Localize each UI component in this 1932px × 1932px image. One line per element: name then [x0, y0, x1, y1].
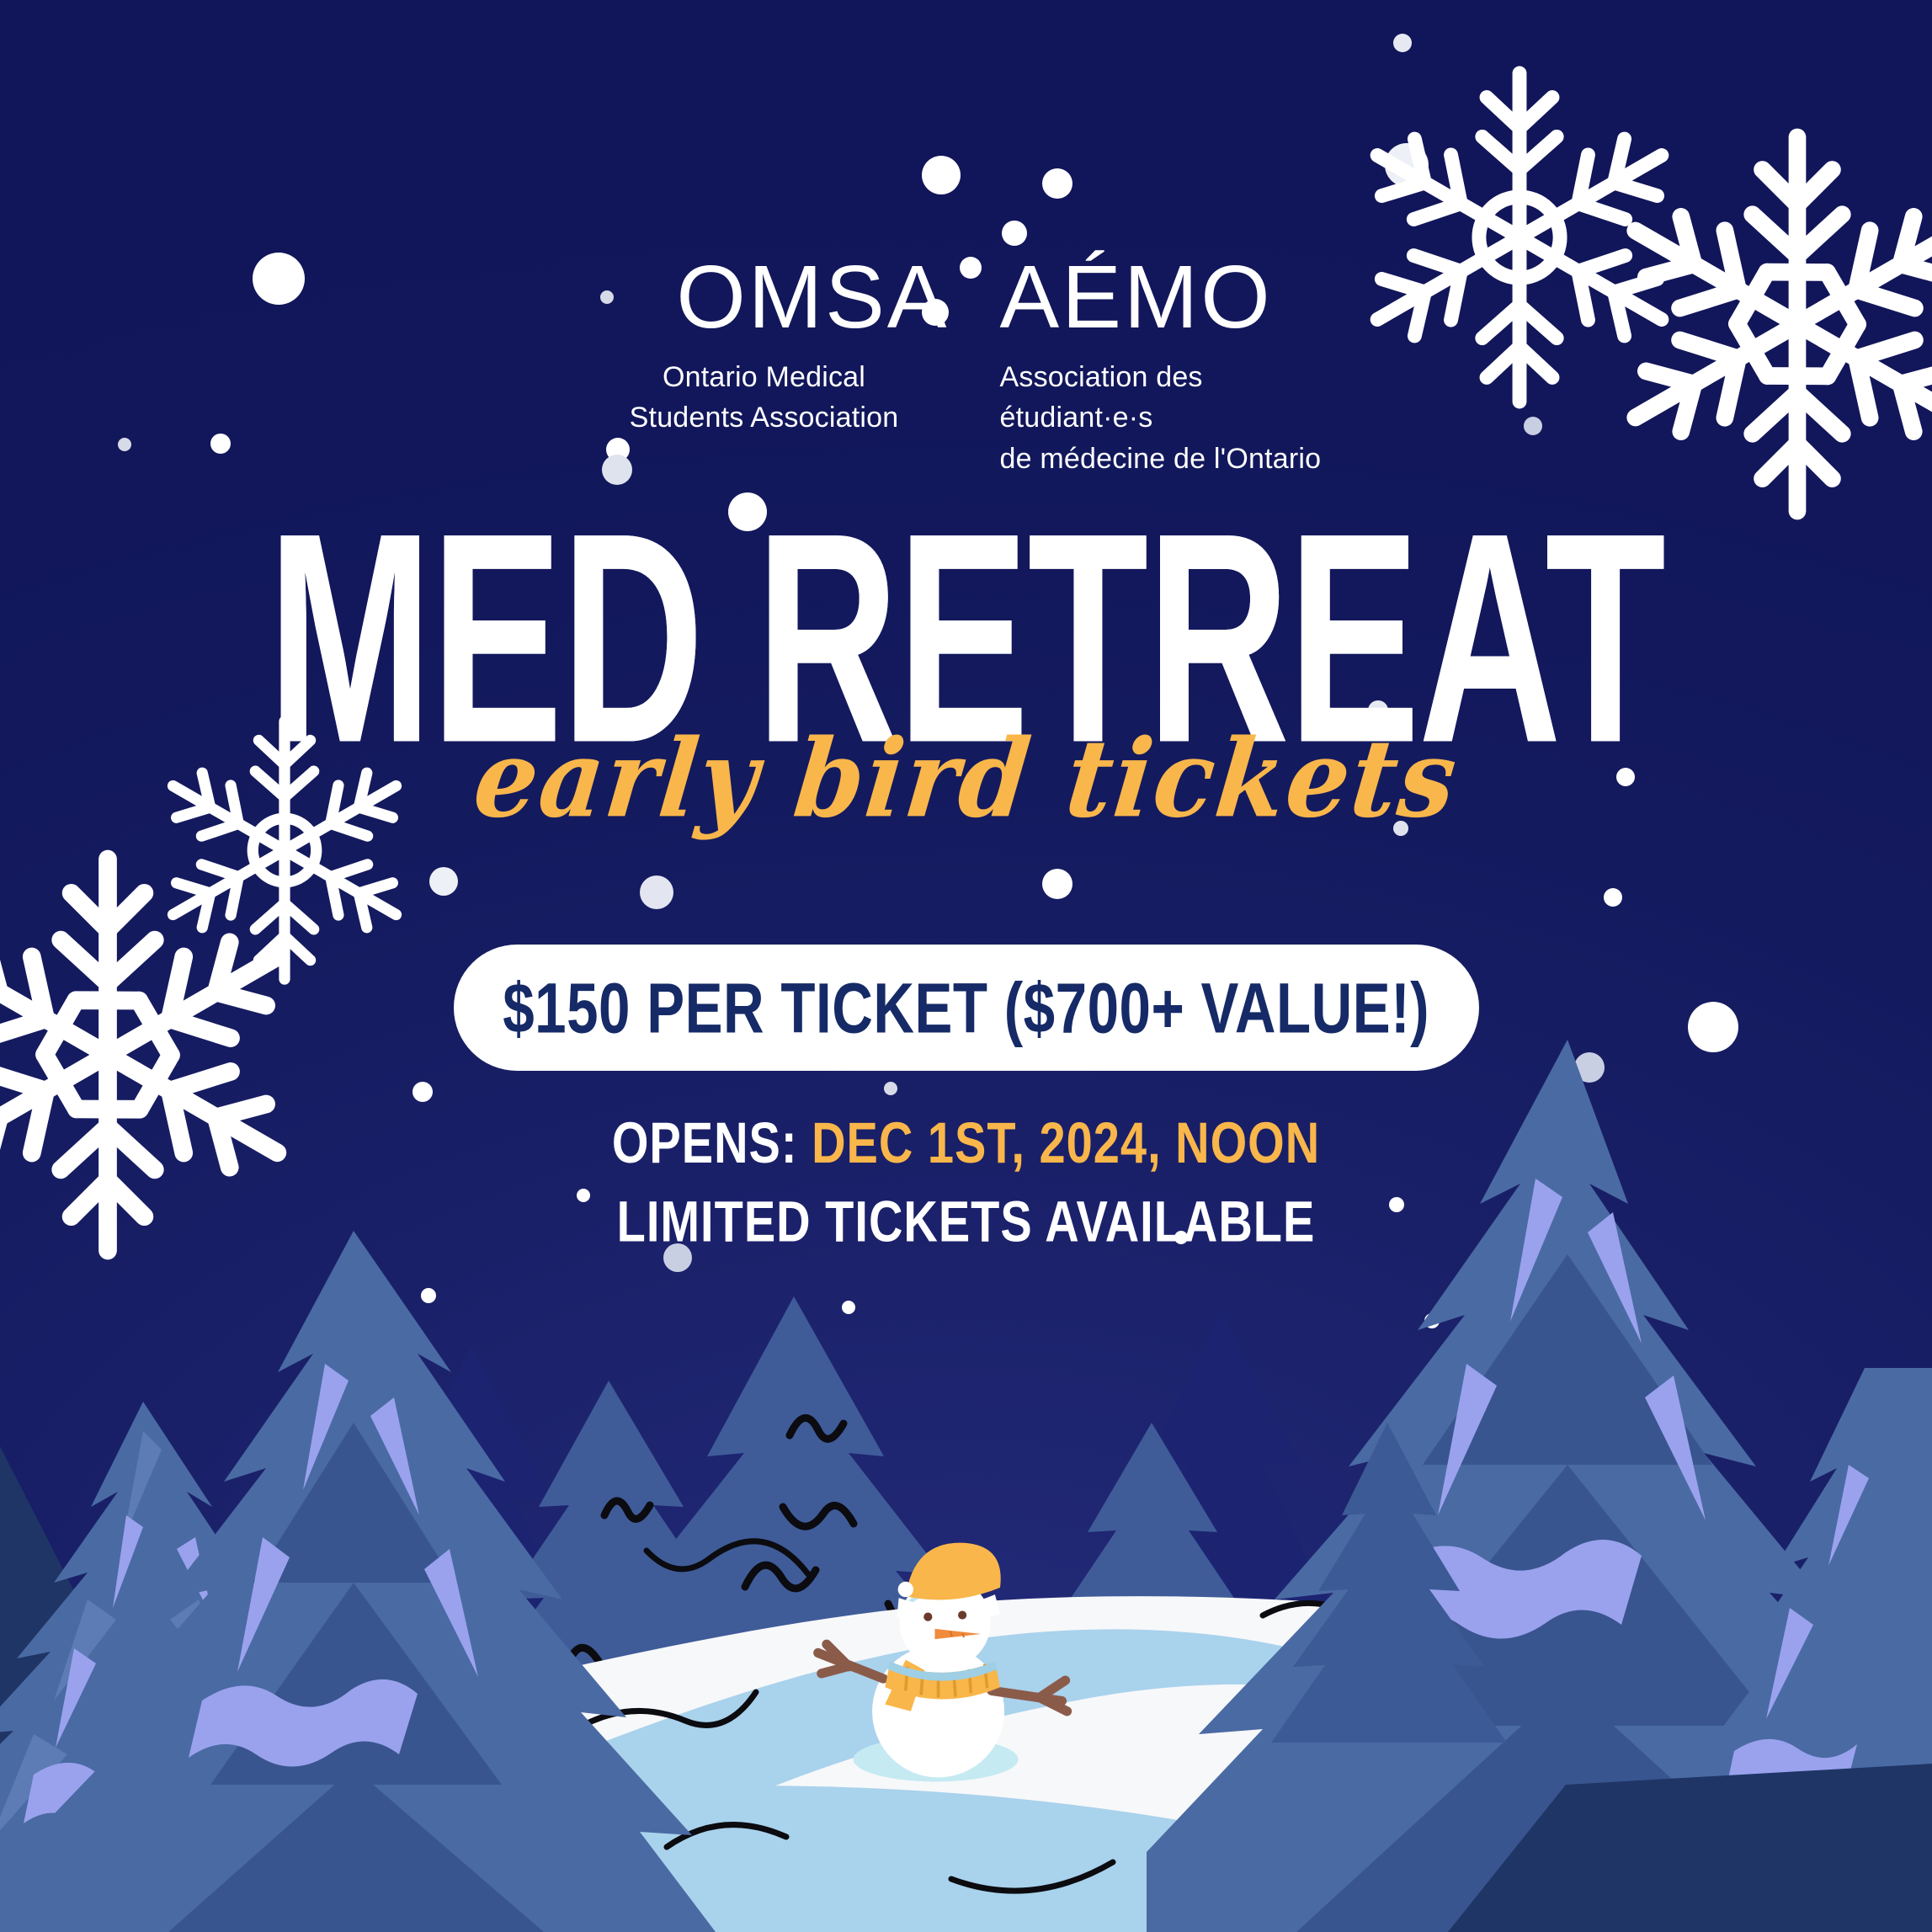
logo-english-block: OMSA Ontario Medical Students Associatio… — [588, 253, 950, 439]
opens-value: DEC 1ST, 2024, NOON — [812, 1110, 1320, 1175]
logo-name-fr-line1: Association des étudiant·e·s — [1000, 357, 1345, 439]
availability-line: LIMITED TICKETS AVAILABLE — [0, 1194, 1932, 1248]
opens-label: OPENS: — [612, 1110, 812, 1175]
price-badge-label: $150 PER TICKET ($700+ VALUE!) — [503, 966, 1429, 1048]
logo-french-block: AÉMO Association des étudiant·e·s de méd… — [950, 253, 1345, 479]
poster-canvas: OMSA Ontario Medical Students Associatio… — [0, 0, 1932, 1932]
logo-acronym-fr: AÉMO — [1000, 253, 1345, 342]
availability-label: LIMITED TICKETS AVAILABLE — [617, 1188, 1316, 1254]
logo-name-en-line1: Ontario Medical — [588, 357, 941, 397]
logo-acronym-en: OMSA — [588, 253, 950, 342]
logo-name-en-line2: Students Association — [588, 397, 941, 438]
headline-script-subtitle: early bird tickets — [0, 715, 1932, 841]
price-badge: $150 PER TICKET ($700+ VALUE!) — [454, 945, 1479, 1071]
snowflake-icon — [0, 860, 301, 1251]
omsa-aemo-logo: OMSA Ontario Medical Students Associatio… — [0, 253, 1932, 479]
opens-line: OPENS: DEC 1ST, 2024, NOON — [0, 1120, 1932, 1185]
